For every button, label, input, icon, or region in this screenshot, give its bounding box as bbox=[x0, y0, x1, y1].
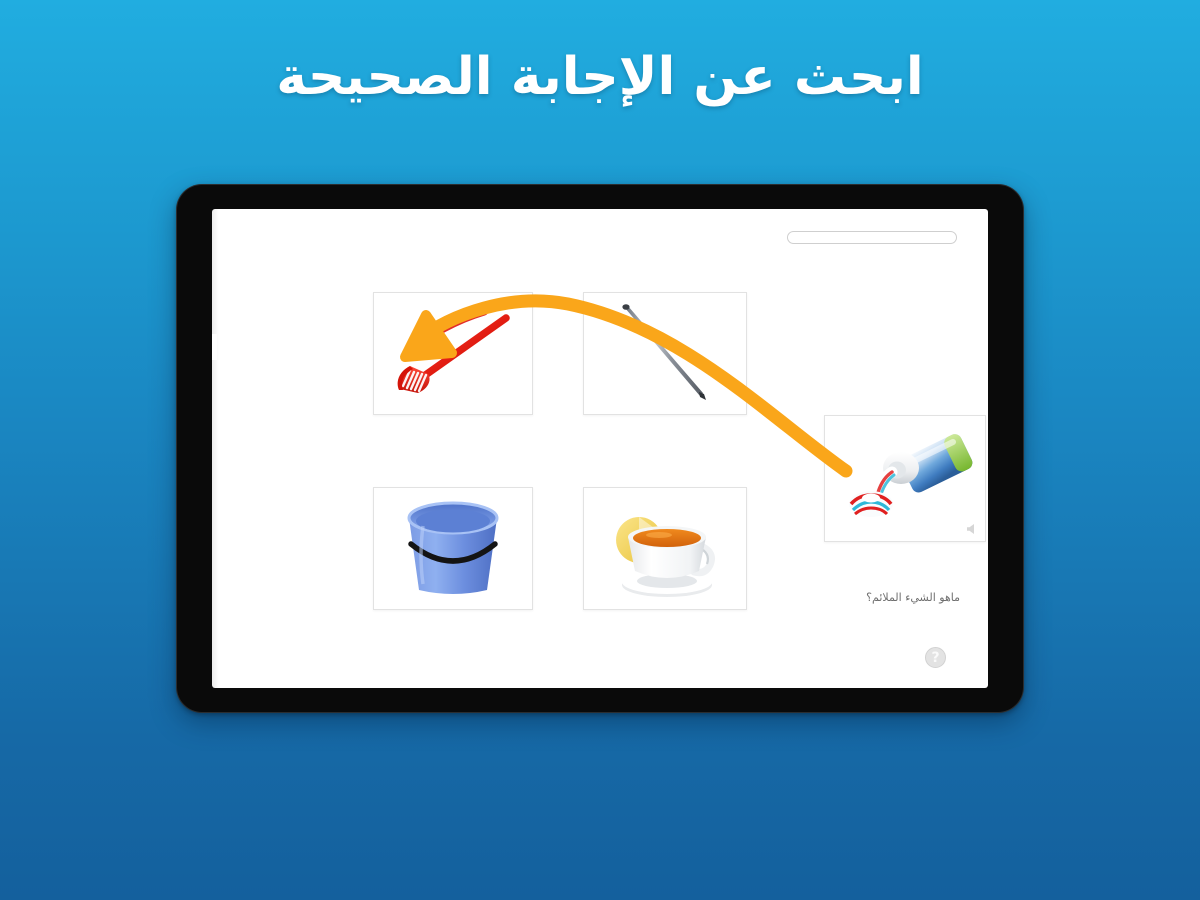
answer-card-bucket[interactable] bbox=[373, 487, 533, 610]
pencil-icon bbox=[584, 293, 746, 414]
progress-bar bbox=[787, 231, 957, 244]
toothpaste-icon bbox=[825, 416, 985, 541]
answer-card-toothbrush[interactable] bbox=[373, 292, 533, 415]
toothbrush-icon bbox=[374, 293, 532, 414]
screen-edge-shading bbox=[212, 209, 219, 688]
answer-card-toothpaste[interactable] bbox=[824, 415, 986, 542]
tablet-screen: ماهو الشيء الملائم؟ ? bbox=[212, 209, 988, 688]
question-prompt: ماهو الشيء الملائم؟ bbox=[700, 591, 960, 604]
page-root: ابحث عن الإجابة الصحيحة bbox=[0, 0, 1200, 900]
bucket-icon bbox=[374, 488, 532, 609]
tablet-device: ماهو الشيء الملائم؟ ? bbox=[176, 184, 1024, 713]
screen-edge-notch bbox=[212, 334, 217, 360]
answer-card-pencil[interactable] bbox=[583, 292, 747, 415]
speaker-icon[interactable] bbox=[964, 521, 980, 537]
page-title: ابحث عن الإجابة الصحيحة bbox=[0, 48, 1200, 106]
help-button[interactable]: ? bbox=[925, 647, 946, 668]
